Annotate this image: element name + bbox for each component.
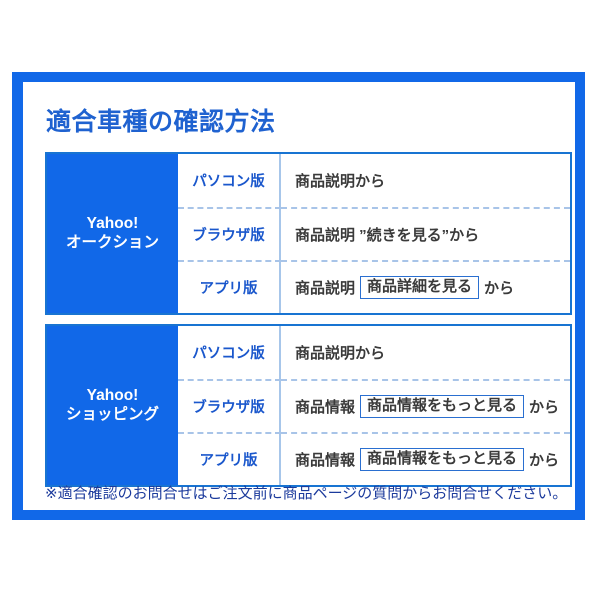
platform-label: アプリ版: [178, 432, 281, 485]
platform-label: パソコン版: [178, 154, 281, 207]
instruction-suffix: から: [484, 277, 514, 298]
instruction-prefix: 商品情報: [295, 396, 355, 417]
table-row: パソコン版 商品説明から: [178, 154, 570, 207]
brand-line2: ショッピング: [66, 406, 159, 425]
instruction-cell: 商品説明 ”続きを見る”から: [281, 207, 570, 260]
table-row: アプリ版 商品情報 商品情報をもっと見る から: [178, 432, 570, 485]
compat-table-shopping: Yahoo! ショッピング パソコン版 商品説明から ブラウザ版: [45, 324, 572, 487]
page-canvas: 適合車種の確認方法 Yahoo! オークション パソコン版: [0, 0, 600, 600]
instruction-cell: 商品情報 商品情報をもっと見る から: [281, 432, 570, 485]
footer-note: ※適合確認のお問合せはご注文前に商品ページの質問からお問合せください。: [45, 482, 567, 503]
instruction-prefix: 商品説明から: [295, 342, 385, 363]
table-row: ブラウザ版 商品説明 ”続きを見る”から: [178, 207, 570, 260]
instruction-cell: 商品情報 商品情報をもっと見る から: [281, 379, 570, 432]
page-title: 適合車種の確認方法: [46, 102, 276, 138]
instruction-cell: 商品説明 商品詳細を見る から: [281, 260, 570, 313]
brand-line1: Yahoo!: [66, 215, 159, 234]
instruction-suffix: から: [529, 396, 559, 417]
ui-button-chip[interactable]: 商品情報をもっと見る: [360, 448, 524, 472]
brand-cell-auction: Yahoo! オークション: [47, 154, 178, 313]
instruction-prefix: 商品情報: [295, 449, 355, 470]
instruction-prefix: 商品説明から: [295, 170, 385, 191]
table-row: アプリ版 商品説明 商品詳細を見る から: [178, 260, 570, 313]
instruction-cell: 商品説明から: [281, 326, 570, 379]
instruction-prefix: 商品説明: [295, 277, 355, 298]
blue-frame: 適合車種の確認方法 Yahoo! オークション パソコン版: [12, 72, 585, 520]
instruction-cell: 商品説明から: [281, 154, 570, 207]
platform-label: ブラウザ版: [178, 207, 281, 260]
frame-inner-panel: 適合車種の確認方法 Yahoo! オークション パソコン版: [23, 82, 575, 510]
platform-label: ブラウザ版: [178, 379, 281, 432]
compat-table-auction: Yahoo! オークション パソコン版 商品説明から ブラウザ版: [45, 152, 572, 315]
platform-label: パソコン版: [178, 326, 281, 379]
table-row: ブラウザ版 商品情報 商品情報をもっと見る から: [178, 379, 570, 432]
ui-button-chip[interactable]: 商品詳細を見る: [360, 276, 479, 300]
rows-wrapper-auction: パソコン版 商品説明から ブラウザ版 商品説明 ”続きを見る”から: [178, 154, 570, 313]
rows-wrapper-shopping: パソコン版 商品説明から ブラウザ版 商品情報 商品情報をもっと見る から: [178, 326, 570, 485]
ui-button-chip[interactable]: 商品情報をもっと見る: [360, 395, 524, 419]
brand-cell-shopping: Yahoo! ショッピング: [47, 326, 178, 485]
instruction-suffix: から: [529, 449, 559, 470]
brand-line2: オークション: [66, 234, 159, 253]
platform-label: アプリ版: [178, 260, 281, 313]
brand-line1: Yahoo!: [66, 387, 159, 406]
instruction-prefix: 商品説明 ”続きを見る”から: [295, 224, 479, 245]
table-row: パソコン版 商品説明から: [178, 326, 570, 379]
